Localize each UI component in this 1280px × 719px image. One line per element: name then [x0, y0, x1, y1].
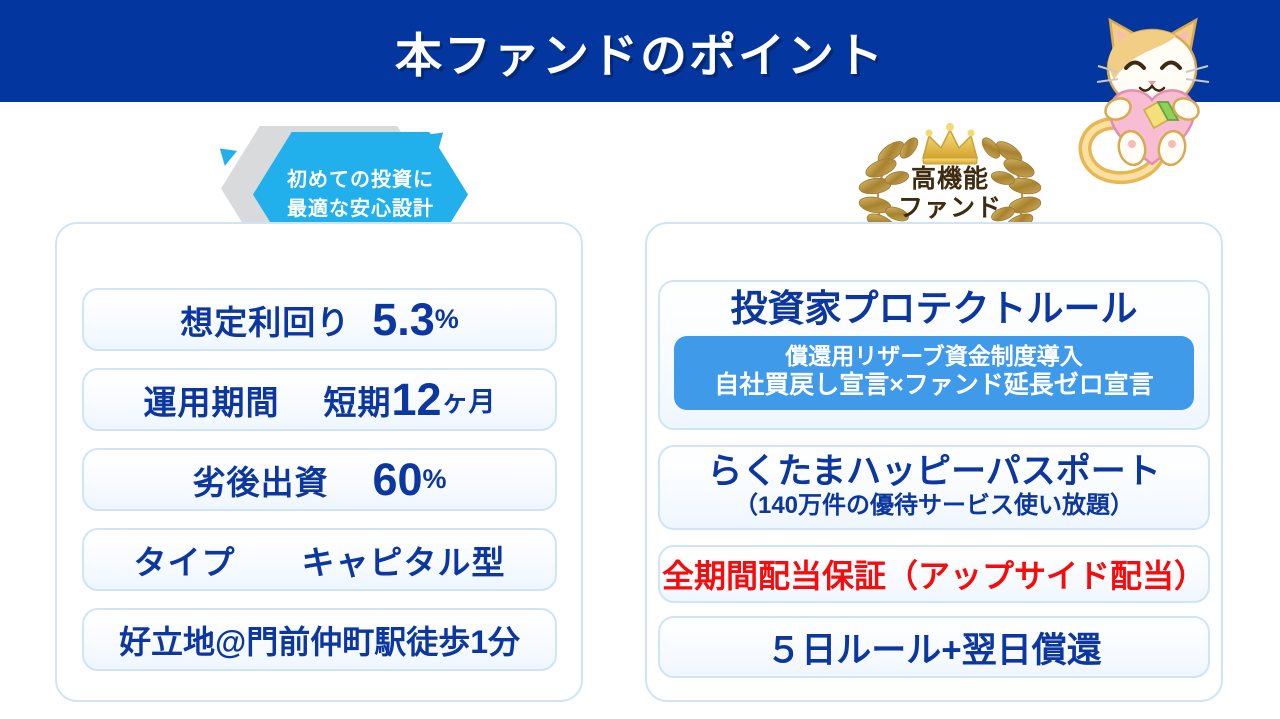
row-label: 好立地@門前仲町駅徒歩1分 — [119, 617, 520, 663]
feature-card-five-day-rule: ５日ルール+翌日償還 — [658, 616, 1210, 678]
fund-spec-row-location: 好立地@門前仲町駅徒歩1分 — [82, 608, 557, 671]
row-unit: % — [423, 464, 447, 495]
row-value: 12 — [391, 374, 441, 426]
bubble-line-1: 初めての投資に — [287, 166, 434, 195]
row-unit: % — [435, 304, 459, 335]
fund-spec-row-yield: 想定利回り 5.3 % — [82, 288, 557, 351]
row-label: 劣後出資 — [192, 456, 328, 504]
card-title: 投資家プロテクトルール — [731, 288, 1138, 331]
row-prefix: 短期 — [323, 376, 391, 424]
row-label: 想定利回り — [180, 296, 350, 344]
card-subbox: 償還用リザーブ資金制度導入 自社買戻し宣言×ファンド延長ゼロ宣言 — [674, 336, 1194, 410]
feature-card-investor-protect: 投資家プロテクトルール 償還用リザーブ資金制度導入 自社買戻し宣言×ファンド延長… — [658, 280, 1210, 430]
fund-spec-row-type: タイプ キャピタル型 — [82, 528, 557, 591]
row-value: キャピタル型 — [302, 536, 506, 584]
page-title: 本ファンドのポイント — [395, 17, 885, 86]
fund-spec-row-subordinated: 劣後出資 60 % — [82, 448, 557, 511]
row-value: 5.3 — [372, 294, 435, 346]
card-title: 全期間配当保証（アップサイド配当） — [662, 551, 1206, 597]
bubble-line-2: 最適な安心設計 — [287, 195, 434, 224]
feature-card-dividend-guarantee: 全期間配当保証（アップサイド配当） — [658, 545, 1210, 603]
row-unit: ヶ月 — [442, 380, 496, 419]
fund-spec-row-period: 運用期間 短期 12 ヶ月 — [82, 368, 557, 431]
row-value: 60 — [372, 454, 422, 506]
row-label: 運用期間 — [143, 376, 279, 424]
card-title: らくたまハッピーパスポート — [707, 454, 1161, 491]
card-subtitle: （140万件の優待サービス使い放題） — [734, 490, 1134, 521]
card-title: ５日ルール+翌日償還 — [766, 622, 1101, 673]
row-label: タイプ — [134, 536, 236, 584]
page-header: 本ファンドのポイント — [0, 0, 1280, 102]
subbox-line-1: 償還用リザーブ資金制度導入 — [674, 342, 1194, 371]
feature-card-happy-passport: らくたまハッピーパスポート （140万件の優待サービス使い放題） — [658, 445, 1210, 530]
subbox-line-2: 自社買戻し宣言×ファンド延長ゼロ宣言 — [674, 370, 1194, 401]
